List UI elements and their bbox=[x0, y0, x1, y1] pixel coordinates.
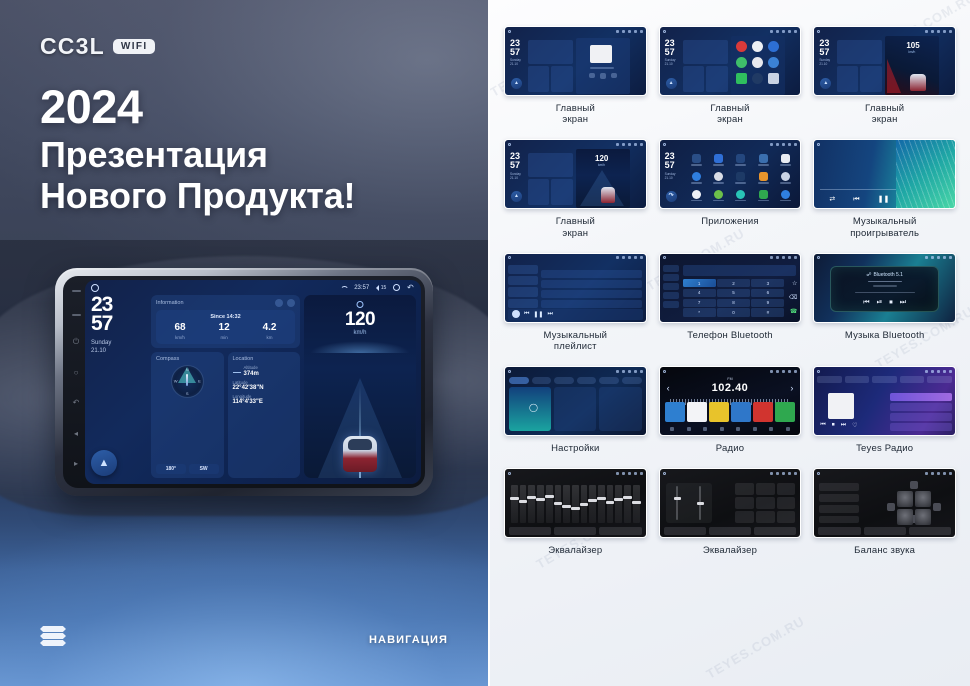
car-interior: ⏻ ○ ↶ ◂ ▸ 23:57 bbox=[0, 250, 488, 550]
tile-equalizer-presets[interactable] bbox=[659, 468, 802, 538]
home-icon bbox=[817, 256, 820, 259]
gallery-cell[interactable]: Эквалайзер bbox=[659, 468, 802, 556]
home-icon bbox=[817, 472, 820, 475]
gallery-cell[interactable]: ⏮ ⏹ ⏭ ♡ Teyes Радио bbox=[813, 366, 956, 454]
page-title: 2024 Презентация Нового Продукта! bbox=[40, 80, 460, 216]
eq-icon[interactable] bbox=[720, 427, 724, 431]
eq-tab[interactable] bbox=[709, 527, 751, 535]
tile-caption: Главныйэкран bbox=[865, 103, 904, 125]
altitude-icon bbox=[233, 367, 241, 373]
gallery-cell[interactable]: ⏮ ❚❚ ⏭ Музыкальныйплейлист bbox=[504, 253, 647, 352]
mini-player[interactable]: ⏮ ❚❚ ⏭ bbox=[508, 309, 643, 320]
head-unit-bezel: ⏻ ○ ↶ ◂ ▸ 23:57 bbox=[55, 268, 433, 496]
gallery-cell[interactable]: FM 102.40 ‹ › bbox=[659, 366, 802, 454]
tile-caption: Эквалайзер bbox=[703, 545, 757, 556]
wifi-badge: WIFI bbox=[113, 39, 155, 54]
album-visual bbox=[896, 140, 955, 208]
gallery-cell[interactable]: 2357Sunday21.10 ▲ Главныйэкран bbox=[659, 26, 802, 125]
tab-more[interactable] bbox=[599, 377, 619, 384]
tile-bluetooth-music[interactable]: ☍ Bluetooth 5.1 ⏮ ⏯ ⏹ ⏭ bbox=[813, 253, 956, 323]
brand-name: CC3L bbox=[40, 33, 105, 60]
side-key-prev-icon[interactable] bbox=[72, 290, 81, 292]
compass-dial: N S E W bbox=[171, 365, 204, 398]
key-2[interactable]: 2 bbox=[717, 279, 750, 287]
app-item[interactable] bbox=[731, 152, 751, 168]
preset-button[interactable] bbox=[777, 497, 796, 509]
compass-w: W bbox=[174, 379, 178, 384]
tab-about[interactable] bbox=[622, 377, 642, 384]
list-icon[interactable] bbox=[786, 427, 790, 431]
gallery-cell[interactable]: ☍ Bluetooth 5.1 ⏮ ⏯ ⏹ ⏭ bbox=[813, 253, 956, 352]
head-unit-body: ⏻ ○ ↶ ◂ ▸ 23:57 bbox=[63, 276, 425, 488]
next-icon[interactable]: ⏭ bbox=[547, 311, 552, 318]
tune-down-icon[interactable]: ‹ bbox=[667, 384, 670, 393]
rds-icon[interactable] bbox=[736, 427, 740, 431]
more-card[interactable] bbox=[599, 387, 641, 431]
tab-display[interactable] bbox=[554, 377, 574, 384]
preset-6[interactable] bbox=[775, 402, 795, 422]
clock-date: 21.10 bbox=[91, 347, 147, 355]
hud-gauge-icon bbox=[357, 301, 364, 308]
layers-icon bbox=[40, 626, 66, 648]
status-time: 23:57 bbox=[354, 285, 369, 291]
navigation-label: НАВИГАЦИЯ bbox=[369, 634, 448, 646]
phone-sidebar[interactable] bbox=[663, 265, 679, 308]
clock-column: 23 57 Sunday 21.10 ▲ bbox=[91, 295, 147, 478]
title-line-2: Нового Продукта! bbox=[40, 176, 460, 217]
stop-icon[interactable]: ⏹ bbox=[889, 299, 893, 306]
favorite-icon[interactable]: ♡ bbox=[852, 422, 857, 429]
navigation-orb: ▲ bbox=[511, 191, 522, 202]
back-orb: ↷ bbox=[666, 191, 677, 202]
key-5[interactable]: 5 bbox=[717, 289, 750, 297]
wifi-icon: ◯ bbox=[529, 403, 538, 412]
radio-band: FM bbox=[660, 377, 801, 381]
volume-level: 15 bbox=[381, 285, 387, 291]
app-item[interactable] bbox=[753, 188, 773, 204]
navigation-arrow-icon: ▲ bbox=[99, 458, 110, 469]
home-icon bbox=[663, 370, 666, 373]
bal-tab[interactable] bbox=[909, 527, 951, 535]
key-hash[interactable]: # bbox=[751, 308, 784, 316]
home-icon bbox=[508, 256, 511, 259]
back-icon[interactable]: ↶ bbox=[72, 398, 81, 407]
track-list[interactable] bbox=[541, 270, 642, 308]
gear-icon[interactable] bbox=[393, 284, 400, 291]
app-item[interactable] bbox=[709, 170, 729, 186]
tile-caption: Настройки bbox=[551, 443, 599, 454]
gallery-cell[interactable]: ◯ Настройки bbox=[504, 366, 647, 454]
compass-title: Compass bbox=[156, 356, 219, 362]
home-icon[interactable]: ○ bbox=[72, 368, 81, 377]
preset-button[interactable] bbox=[756, 497, 775, 509]
equalizer-bands[interactable] bbox=[511, 485, 640, 523]
tile-caption: Телефон Bluetooth bbox=[687, 330, 773, 341]
information-title: Information bbox=[156, 300, 184, 306]
bal-tab[interactable] bbox=[818, 527, 860, 535]
band-slider[interactable] bbox=[555, 485, 562, 523]
key-0[interactable]: 0 bbox=[717, 308, 750, 316]
track-artist bbox=[873, 285, 897, 287]
tile-caption: Музыка Bluetooth bbox=[845, 330, 925, 341]
speaker-rl[interactable] bbox=[897, 509, 913, 525]
tile-home-screen-drive[interactable]: 2357Sunday21.10 ▲ 120 km/h bbox=[504, 139, 647, 209]
refresh-icon[interactable] bbox=[275, 299, 283, 307]
clock-minutes: 57 bbox=[91, 314, 147, 333]
navigation-orb: ▲ bbox=[820, 78, 831, 89]
power-icon[interactable]: ⏻ bbox=[72, 337, 81, 346]
previous-icon[interactable]: ⏮ bbox=[863, 299, 869, 306]
app-item[interactable] bbox=[753, 170, 773, 186]
equalizer-toolbar[interactable] bbox=[664, 527, 797, 535]
compass-needle-icon bbox=[186, 374, 188, 386]
tile-music-playlist[interactable]: ⏮ ❚❚ ⏭ bbox=[504, 253, 647, 323]
band-slider[interactable] bbox=[528, 485, 535, 523]
compass-e: E bbox=[198, 379, 201, 384]
playback-controls[interactable]: ⏮ ⏯ ⏹ ⏭ bbox=[863, 299, 906, 306]
app-item[interactable] bbox=[731, 170, 751, 186]
balance-pad[interactable] bbox=[887, 481, 941, 523]
bal-tab[interactable] bbox=[864, 527, 906, 535]
latitude-value: 22°42'38"N bbox=[233, 385, 264, 391]
eq-tab[interactable] bbox=[599, 527, 641, 535]
key-4[interactable]: 4 bbox=[683, 289, 716, 297]
screenshot-gallery: TEYES.COM.RU TEYES.COM.RU TEYES.COM.RU T… bbox=[488, 0, 970, 686]
album-art bbox=[828, 393, 854, 419]
tile-caption: Музыкальныйплейлист bbox=[543, 330, 607, 352]
band-slider[interactable] bbox=[563, 485, 570, 523]
navigation-orb-button[interactable]: ▲ bbox=[91, 450, 117, 476]
tile-settings[interactable]: ◯ bbox=[504, 366, 647, 436]
eq-tab[interactable] bbox=[754, 527, 796, 535]
slider[interactable] bbox=[676, 486, 678, 520]
key-6[interactable]: 6 bbox=[751, 289, 784, 297]
home-icon bbox=[508, 143, 511, 146]
tile-caption: Teyes Радио bbox=[856, 443, 913, 454]
previous-icon[interactable]: ⏮ bbox=[524, 311, 529, 318]
preset-button[interactable] bbox=[735, 497, 754, 509]
band-slider[interactable] bbox=[511, 485, 518, 523]
playback-controls[interactable]: ⏮ ⏹ ⏭ ♡ bbox=[820, 422, 857, 429]
compass-s: S bbox=[186, 391, 189, 396]
head-unit-side-keys[interactable]: ⏻ ○ ↶ ◂ ▸ bbox=[69, 290, 83, 468]
app-item[interactable] bbox=[775, 152, 795, 168]
app-item[interactable] bbox=[753, 152, 773, 168]
tile-sound-balance[interactable] bbox=[813, 468, 956, 538]
navigation-orb: ▲ bbox=[666, 78, 677, 89]
hud-widget[interactable]: 120 km/h bbox=[304, 295, 416, 478]
key-star[interactable]: * bbox=[683, 308, 716, 316]
speaker-grid[interactable] bbox=[897, 491, 931, 525]
app-grid[interactable] bbox=[686, 151, 797, 204]
gallery-cell[interactable]: 2357Sunday21.10 ▲ 105 km/h Главныйэкран bbox=[813, 26, 956, 125]
stat-speed: 68 km/h bbox=[174, 323, 185, 340]
band-slider[interactable] bbox=[546, 485, 553, 523]
loc-icon[interactable] bbox=[753, 427, 757, 431]
hud-speed-unit: km/h bbox=[304, 330, 416, 336]
tile-home-screen-apps[interactable]: 2357Sunday21.10 ▲ bbox=[659, 26, 802, 96]
title-line-1: Презентация bbox=[40, 135, 460, 176]
preset-2[interactable] bbox=[687, 402, 707, 422]
tile-caption: Музыкальныйпроигрыватель bbox=[850, 216, 919, 238]
pause-icon[interactable]: ❚❚ bbox=[878, 196, 890, 203]
balance-toolbar[interactable] bbox=[818, 527, 951, 535]
status-bar: 23:57 15 ↷ bbox=[85, 280, 421, 295]
product-logo: CC3L WIFI bbox=[40, 33, 155, 60]
band-slider[interactable] bbox=[624, 485, 631, 523]
home-icon bbox=[508, 472, 511, 475]
eq-tab[interactable] bbox=[664, 527, 706, 535]
settings-tabs[interactable] bbox=[509, 377, 642, 384]
band-slider[interactable] bbox=[537, 485, 544, 523]
tab-wifi[interactable] bbox=[509, 377, 529, 384]
home-icon bbox=[663, 256, 666, 259]
title-year: 2024 bbox=[40, 80, 460, 133]
expand-icon[interactable] bbox=[287, 299, 295, 307]
preset-button[interactable] bbox=[735, 511, 754, 523]
next-icon[interactable]: ⏭ bbox=[900, 299, 906, 306]
balance-presets[interactable] bbox=[819, 483, 859, 523]
home-icon bbox=[817, 143, 820, 146]
home-icon bbox=[817, 370, 820, 373]
tile-caption: Приложения bbox=[701, 216, 759, 227]
band-slider[interactable] bbox=[572, 485, 579, 523]
tile-home-screen-media[interactable]: 2357Sunday21.10 ▲ bbox=[504, 26, 647, 96]
home-icon bbox=[663, 472, 666, 475]
home-icon bbox=[508, 30, 511, 33]
hud-speed-value: 120 bbox=[304, 309, 416, 331]
scan-icon[interactable] bbox=[769, 427, 773, 431]
stat-duration-value: 12 bbox=[219, 323, 230, 333]
next-icon[interactable]: ⏭ bbox=[841, 422, 846, 429]
speaker-fr[interactable] bbox=[915, 491, 931, 507]
trip-since: Since 14:32 bbox=[158, 314, 293, 320]
tile-caption: Главныйэкран bbox=[556, 216, 595, 238]
left-button[interactable] bbox=[887, 503, 895, 511]
preset-button[interactable] bbox=[756, 511, 775, 523]
gallery-cell[interactable]: Эквалайзер bbox=[504, 468, 647, 556]
band-slider[interactable] bbox=[615, 485, 622, 523]
shuffle-icon[interactable]: ⇄ bbox=[829, 196, 835, 203]
key-3[interactable]: 3 bbox=[751, 279, 784, 287]
tab-sound[interactable] bbox=[532, 377, 552, 384]
speaker-rr[interactable] bbox=[915, 509, 931, 525]
bluetooth-version: Bluetooth 5.1 bbox=[873, 272, 902, 278]
level-sliders[interactable] bbox=[666, 483, 712, 523]
gallery-cell[interactable]: 2357Sunday21.10 ▲ 120 km/h Главныйэкран bbox=[504, 139, 647, 238]
clock-weekday: Sunday bbox=[91, 339, 147, 347]
longitude-value: 114°4'33"E bbox=[233, 399, 263, 405]
app-item[interactable] bbox=[687, 152, 707, 168]
band-slider[interactable] bbox=[598, 485, 605, 523]
preset-button[interactable] bbox=[777, 483, 796, 495]
volume-up-icon[interactable]: ▸ bbox=[72, 459, 81, 468]
home-icon bbox=[663, 30, 666, 33]
speaker-fl[interactable] bbox=[897, 491, 913, 507]
trip-stats: Since 14:32 68 km/h 12 bbox=[156, 310, 295, 344]
stop-icon[interactable]: ⏹ bbox=[832, 422, 835, 429]
station-list[interactable] bbox=[890, 393, 952, 431]
hud-horizon-glow bbox=[310, 341, 410, 353]
navigation-orb: ▲ bbox=[511, 78, 522, 89]
stat-duration: 12 min bbox=[219, 323, 230, 340]
gallery-cell[interactable]: 2357Sunday21.10 ▲ Главныйэкран bbox=[504, 26, 647, 125]
gallery-cell[interactable]: 2357Sunday21.10 ↷ bbox=[659, 139, 802, 238]
call-icon[interactable]: ☎ bbox=[790, 308, 797, 315]
location-title: Location bbox=[233, 356, 296, 362]
play-pause-icon[interactable]: ⏯ bbox=[877, 299, 883, 306]
eq-tab[interactable] bbox=[554, 527, 596, 535]
search-icon[interactable] bbox=[687, 427, 691, 431]
preset-5[interactable] bbox=[753, 402, 773, 422]
home-icon[interactable] bbox=[670, 427, 674, 431]
app-item[interactable] bbox=[687, 188, 707, 204]
album-art bbox=[512, 310, 520, 318]
hud-speed-value: 120 bbox=[595, 154, 608, 163]
back-icon[interactable]: ↷ bbox=[407, 284, 414, 292]
track-title bbox=[868, 281, 902, 283]
tile-radio[interactable]: FM 102.40 ‹ › bbox=[659, 366, 802, 436]
band-icon[interactable] bbox=[703, 427, 707, 431]
previous-icon[interactable]: ⏮ bbox=[820, 422, 825, 429]
pause-icon[interactable]: ❚❚ bbox=[533, 311, 543, 318]
home-icon bbox=[508, 370, 511, 373]
bluetooth-card: ☍ Bluetooth 5.1 ⏮ ⏯ ⏹ ⏭ bbox=[830, 266, 939, 312]
volume-down-icon[interactable]: ◂ bbox=[72, 429, 81, 438]
screen-body: 23 57 Sunday 21.10 ▲ Information bbox=[85, 295, 421, 484]
tile-bluetooth-phone[interactable]: 1 2 3 4 5 6 7 8 9 * 0 # ☆ ⌫ bbox=[659, 253, 802, 323]
tile-caption: Главныйэкран bbox=[710, 103, 749, 125]
compass-widget[interactable]: Compass N S E W bbox=[151, 352, 224, 479]
volume-icon[interactable]: 15 bbox=[376, 285, 386, 291]
dial-pad[interactable]: 1 2 3 4 5 6 7 8 9 * 0 # bbox=[683, 279, 785, 317]
tile-home-screen-hud[interactable]: 2357Sunday21.10 ▲ 105 km/h bbox=[813, 26, 956, 96]
key-8[interactable]: 8 bbox=[717, 299, 750, 307]
tab-system[interactable] bbox=[577, 377, 597, 384]
watermark: TEYES.COM.RU bbox=[704, 613, 808, 681]
compass-direction: SW bbox=[189, 464, 219, 474]
side-key-next-icon[interactable] bbox=[72, 314, 81, 316]
carplay-card[interactable] bbox=[554, 387, 596, 431]
hero-panel: CC3L WIFI 2024 Презентация Нового Продук… bbox=[0, 0, 488, 686]
tile-caption: Баланс звука bbox=[854, 545, 915, 556]
tile-equalizer-bands[interactable] bbox=[504, 468, 647, 538]
playlist-sidebar[interactable] bbox=[508, 265, 538, 308]
tile-teyes-radio[interactable]: ⏮ ⏹ ⏭ ♡ bbox=[813, 366, 956, 436]
previous-icon[interactable]: ⏮ bbox=[853, 196, 859, 203]
preset-button[interactable] bbox=[777, 511, 796, 523]
hud-car-icon bbox=[343, 436, 377, 472]
bluetooth-icon: ☍ bbox=[866, 272, 871, 278]
app-item[interactable] bbox=[687, 170, 707, 186]
altitude-label: Altitude bbox=[244, 365, 258, 370]
tile-caption: Эквалайзер bbox=[548, 545, 602, 556]
band-slider[interactable] bbox=[589, 485, 596, 523]
app-item[interactable] bbox=[775, 170, 795, 186]
widgets-column: Information Since 14:32 bbox=[151, 295, 300, 478]
information-widget[interactable]: Information Since 14:32 bbox=[151, 295, 300, 348]
stat-duration-unit: min bbox=[219, 335, 230, 340]
stat-speed-value: 68 bbox=[174, 323, 185, 333]
slider[interactable] bbox=[699, 486, 701, 520]
hud-speed-value: 105 bbox=[906, 41, 919, 50]
compass-heading: 180° bbox=[156, 464, 186, 474]
home-icon bbox=[817, 30, 820, 33]
gallery-cell[interactable]: 1 2 3 4 5 6 7 8 9 * 0 # ☆ ⌫ bbox=[659, 253, 802, 352]
preset-button[interactable] bbox=[735, 483, 754, 495]
preset-buttons[interactable] bbox=[735, 483, 795, 523]
right-button[interactable] bbox=[933, 503, 941, 511]
app-item[interactable] bbox=[709, 152, 729, 168]
tile-caption: Главныйэкран bbox=[556, 103, 595, 125]
head-unit-screen[interactable]: 23:57 15 ↷ 23 57 Sunday 21.10 bbox=[85, 280, 421, 484]
app-item[interactable] bbox=[775, 188, 795, 204]
preset-3[interactable] bbox=[709, 402, 729, 422]
altitude-value: 374m bbox=[244, 371, 259, 377]
radio-toolbar[interactable] bbox=[664, 424, 797, 433]
preset-4[interactable] bbox=[731, 402, 751, 422]
preset-button[interactable] bbox=[756, 483, 775, 495]
band-slider[interactable] bbox=[633, 485, 640, 523]
stat-distance: 4.2 km bbox=[263, 323, 277, 340]
backspace-icon[interactable]: ⌫ bbox=[789, 294, 797, 301]
band-slider[interactable] bbox=[607, 485, 614, 523]
band-slider[interactable] bbox=[581, 485, 588, 523]
tile-applications[interactable]: 2357Sunday21.10 ↷ bbox=[659, 139, 802, 209]
stat-distance-value: 4.2 bbox=[263, 323, 277, 333]
key-1[interactable]: 1 bbox=[683, 279, 716, 287]
stat-distance-unit: km bbox=[263, 335, 277, 340]
status-home-icon[interactable] bbox=[91, 284, 99, 292]
band-slider[interactable] bbox=[520, 485, 527, 523]
wifi-icon bbox=[340, 285, 347, 291]
preset-1[interactable] bbox=[665, 402, 685, 422]
progress-bar[interactable] bbox=[855, 292, 915, 293]
compass-n: N bbox=[186, 367, 189, 372]
key-7[interactable]: 7 bbox=[683, 299, 716, 307]
eq-tab[interactable] bbox=[509, 527, 551, 535]
front-button[interactable] bbox=[910, 481, 918, 489]
gallery-cell[interactable]: Баланс звука bbox=[813, 468, 956, 556]
app-item[interactable] bbox=[731, 188, 751, 204]
stat-speed-unit: km/h bbox=[174, 335, 185, 340]
tune-up-icon[interactable]: › bbox=[790, 384, 793, 393]
gallery-cell[interactable]: ⇄ ⏮ ❚❚ ⏭ ☰ Музыкальныйпроигрыватель bbox=[813, 139, 956, 238]
location-widget[interactable]: Location Altitude 374m bbox=[228, 352, 301, 479]
key-9[interactable]: 9 bbox=[751, 299, 784, 307]
tile-caption: Радио bbox=[716, 443, 744, 454]
app-item[interactable] bbox=[709, 188, 729, 204]
favorite-icon[interactable]: ☆ bbox=[792, 280, 797, 287]
station-presets[interactable] bbox=[665, 402, 796, 422]
tile-grid: 2357Sunday21.10 ▲ Главныйэкран bbox=[504, 26, 956, 557]
home-icon bbox=[663, 143, 666, 146]
equalizer-toolbar[interactable] bbox=[509, 527, 642, 535]
tile-music-player[interactable]: ⇄ ⏮ ❚❚ ⏭ ☰ bbox=[813, 139, 956, 209]
teyes-tabs[interactable] bbox=[817, 376, 952, 383]
